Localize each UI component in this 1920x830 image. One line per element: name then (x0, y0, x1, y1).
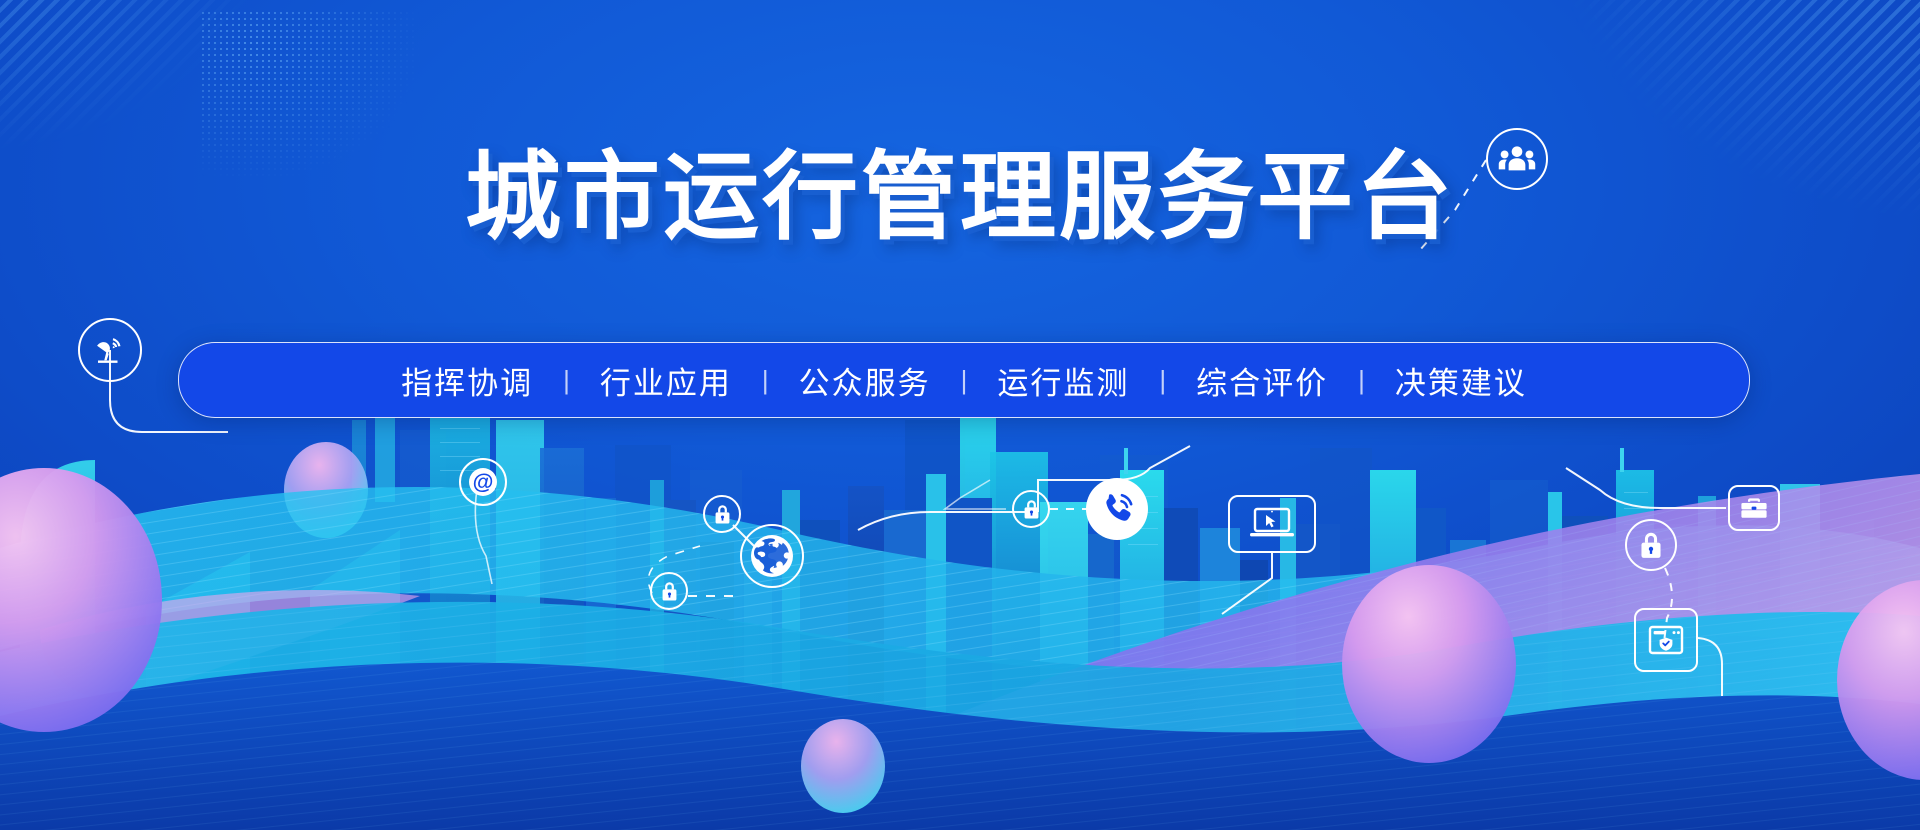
city-platform-banner: 城市运行管理服务平台 指挥协调 | 行业应用 | 公众服务 | 运行监测 | 综… (0, 0, 1920, 830)
laptop-cursor-icon[interactable] (1228, 495, 1316, 553)
globe-icon[interactable] (740, 524, 804, 588)
briefcase-icon[interactable] (1728, 485, 1780, 531)
page-title: 城市运行管理服务平台 (465, 148, 1455, 249)
svg-text:@: @ (473, 470, 494, 494)
nav-separator-3: | (961, 365, 968, 396)
lock-icon-3[interactable] (1012, 490, 1050, 528)
nav-separator-2: | (762, 365, 769, 396)
nav-separator-5: | (1358, 365, 1365, 396)
satellite-dish-icon[interactable] (78, 318, 142, 382)
nav-separator-4: | (1159, 365, 1166, 396)
nav-separator-1: | (563, 365, 570, 396)
sphere-right-large (1342, 565, 1516, 763)
lock-icon-2[interactable] (650, 572, 688, 610)
nav-item-operation-monitoring[interactable]: 运行监测 (967, 358, 1159, 403)
sphere-center-small (801, 719, 885, 813)
nav-item-comprehensive-evaluation[interactable]: 综合评价 (1166, 358, 1358, 403)
nav-item-decision-suggestion[interactable]: 决策建议 (1365, 358, 1557, 403)
phone-call-icon[interactable] (1086, 478, 1148, 540)
main-nav-bar[interactable]: 指挥协调 | 行业应用 | 公众服务 | 运行监测 | 综合评价 | 决策建议 (178, 342, 1750, 418)
nav-item-public-service[interactable]: 公众服务 (769, 358, 961, 403)
at-sign-icon[interactable]: @ (459, 458, 507, 506)
banner-title-container: 城市运行管理服务平台 (0, 148, 1920, 249)
browser-shield-icon[interactable] (1634, 608, 1698, 672)
nav-item-industry-application[interactable]: 行业应用 (570, 358, 762, 403)
lock-icon-1[interactable] (703, 495, 741, 533)
nav-item-command-coordination[interactable]: 指挥协调 (371, 358, 563, 403)
lock-icon-4[interactable] (1625, 519, 1677, 571)
